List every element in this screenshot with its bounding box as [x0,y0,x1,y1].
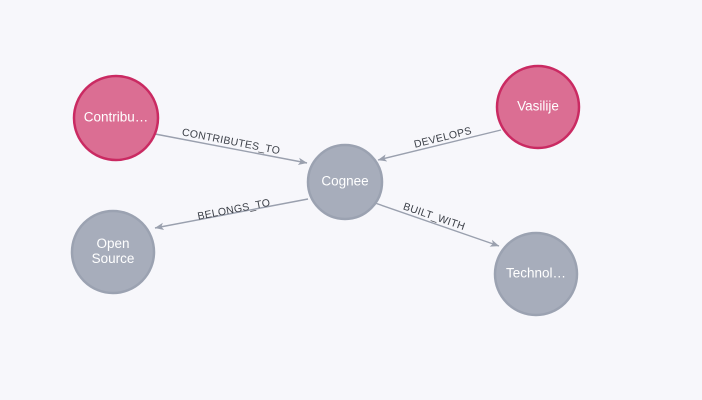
edge-label-belongs-to: BELONGS_TO [196,197,271,223]
node-technology[interactable]: Technol… [495,233,577,315]
node-contributor[interactable]: Contribu… [74,76,158,160]
nodes-layer: Contribu…VasilijeCogneeOpenSourceTechnol… [72,66,579,315]
edge-label-built-with: BUILT_WITH [402,201,467,233]
node-label-contributor: Contribu… [84,110,149,125]
edge-built-with[interactable] [375,203,499,246]
graph-visualization[interactable]: Contribu…VasilijeCogneeOpenSourceTechnol… [0,0,702,400]
node-label-open-source: Source [92,251,135,266]
node-label-technology: Technol… [506,266,566,281]
node-label-vasilije: Vasilije [517,99,559,114]
node-cognee[interactable]: Cognee [308,145,382,219]
edge-label-develops: DEVELOPS [413,125,473,151]
node-vasilije[interactable]: Vasilije [497,66,579,148]
node-label-open-source: Open [96,236,129,251]
graph-canvas[interactable]: Contribu…VasilijeCogneeOpenSourceTechnol… [0,0,702,400]
node-label-cognee: Cognee [321,174,368,189]
node-open-source[interactable]: OpenSource [72,211,154,293]
